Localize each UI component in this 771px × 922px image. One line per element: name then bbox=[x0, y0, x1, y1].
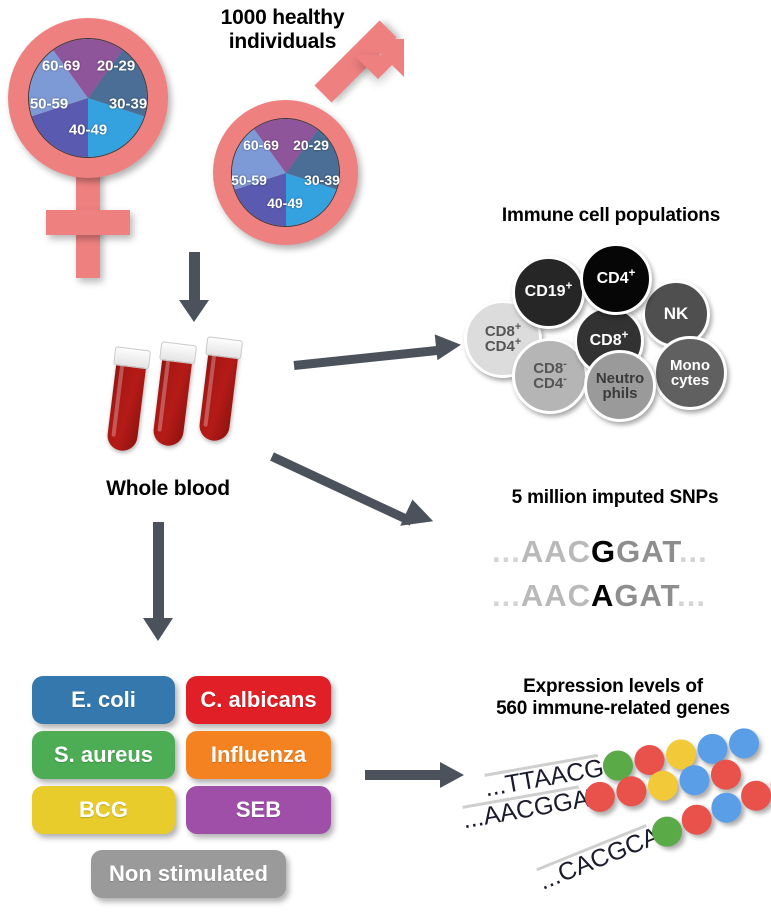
immune-cell-cluster: CD8+ CD4+ CD19+ CD4+ NK CD8+ CD8- CD4- N… bbox=[452, 238, 770, 428]
blood-tube bbox=[152, 342, 194, 448]
arrow-blood-to-snp-head bbox=[400, 499, 438, 537]
expression-title-line2: 560 immune-related genes bbox=[455, 698, 771, 720]
snp-right: GAT bbox=[616, 534, 679, 569]
arrow-stim-to-expr-head bbox=[440, 762, 464, 788]
female-pie-label-40-49: 40-49 bbox=[69, 122, 107, 139]
cell-monocytes: Mono cytes bbox=[653, 336, 727, 410]
stim-box-ecoli[interactable]: E. coli bbox=[32, 676, 175, 724]
male-pie-label-20-29: 20-29 bbox=[293, 137, 329, 153]
snp-sequence-row: ...AACAGAT... bbox=[492, 578, 706, 614]
strand-sequence: ...AACGGAT bbox=[460, 782, 604, 835]
cell-label-line2: CD4- bbox=[533, 376, 567, 391]
stim-box-influenza[interactable]: Influenza bbox=[186, 731, 331, 779]
cell-neutrophils: Neutro phils bbox=[584, 350, 656, 422]
expression-title: Expression levels of 560 immune-related … bbox=[455, 676, 771, 720]
strand-bead bbox=[646, 768, 681, 803]
stim-label: BCG bbox=[79, 797, 128, 823]
snp-prefix: ... bbox=[492, 534, 521, 569]
cell-cd4: CD4+ bbox=[580, 243, 652, 315]
arrow-cohort-to-blood-head bbox=[179, 300, 209, 322]
arrow-blood-to-stim-line bbox=[153, 522, 164, 622]
cohort-title-line1: 1000 healthy bbox=[170, 6, 395, 30]
snp-left: AAC bbox=[521, 534, 591, 569]
immune-populations-title: Immune cell populations bbox=[452, 205, 770, 227]
cell-label-line1: CD8- bbox=[533, 361, 567, 376]
female-pie-label-60-69: 60-69 bbox=[42, 58, 80, 75]
male-pie-label-40-49: 40-49 bbox=[267, 195, 303, 211]
snp-variant: A bbox=[591, 578, 614, 613]
arrow-stim-to-expr-line bbox=[365, 770, 443, 780]
stim-label: C. albicans bbox=[200, 687, 316, 713]
stim-box-calbicans[interactable]: C. albicans bbox=[186, 676, 331, 724]
snp-variant: G bbox=[591, 534, 616, 569]
tube-blood bbox=[106, 357, 147, 452]
stim-label: E. coli bbox=[71, 687, 136, 713]
cell-label: CD19+ bbox=[525, 284, 573, 300]
stim-label: S. aureus bbox=[54, 742, 153, 768]
female-pie-label-30-39: 30-39 bbox=[109, 96, 147, 113]
female-pie-label-50-59: 50-59 bbox=[30, 96, 68, 113]
snp-left: AAC bbox=[521, 578, 591, 613]
strand-bead bbox=[614, 774, 649, 809]
stim-label: Influenza bbox=[211, 742, 306, 768]
tube-blood bbox=[198, 347, 239, 442]
snp-suffix: ... bbox=[679, 534, 708, 569]
cell-label-line1: Neutro bbox=[596, 371, 644, 386]
female-cross-horizontal bbox=[46, 210, 130, 235]
blood-tube bbox=[198, 337, 240, 443]
strand-bead bbox=[737, 776, 771, 815]
snp-suffix: ... bbox=[677, 578, 706, 613]
stim-label: SEB bbox=[236, 797, 281, 823]
female-pie-label-20-29: 20-29 bbox=[97, 58, 135, 75]
cell-label-line2: cytes bbox=[671, 373, 709, 388]
male-pie-label-50-59: 50-59 bbox=[231, 172, 267, 188]
arrow-cohort-to-blood-line bbox=[189, 252, 200, 304]
arrow-blood-to-snp-line bbox=[270, 452, 413, 525]
male-pie-label-60-69: 60-69 bbox=[243, 137, 279, 153]
stim-box-non-stimulated[interactable]: Non stimulated bbox=[91, 850, 286, 898]
tube-blood bbox=[152, 352, 193, 447]
cell-label-line1: Mono bbox=[670, 358, 710, 373]
cell-label-line2: phils bbox=[602, 386, 637, 401]
arrow-blood-to-immune-line bbox=[294, 346, 440, 370]
stim-box-seb[interactable]: SEB bbox=[186, 786, 331, 834]
expression-title-line1: Expression levels of bbox=[455, 676, 771, 698]
blood-tube bbox=[106, 347, 148, 453]
stim-box-bcg[interactable]: BCG bbox=[32, 786, 175, 834]
male-pie-label-30-39: 30-39 bbox=[304, 172, 340, 188]
stim-label: Non stimulated bbox=[109, 861, 268, 887]
cell-label: CD8+ bbox=[590, 333, 629, 349]
stim-box-saureus[interactable]: S. aureus bbox=[32, 731, 175, 779]
snp-right: GAT bbox=[614, 578, 677, 613]
cell-label: NK bbox=[664, 305, 689, 322]
cell-label-line2: CD4+ bbox=[485, 339, 521, 354]
figure-canvas: 1000 healthy individuals 20-29 30-39 40-… bbox=[0, 0, 771, 922]
snp-prefix: ... bbox=[492, 578, 521, 613]
arrow-blood-to-stim-head bbox=[143, 618, 173, 641]
cell-label: CD4+ bbox=[597, 271, 636, 287]
cell-cd19: CD19+ bbox=[512, 256, 585, 329]
blood-label: Whole blood bbox=[88, 477, 248, 501]
snp-title: 5 million imputed SNPs bbox=[460, 487, 770, 509]
snp-sequence-row: ...AACGGAT... bbox=[492, 534, 708, 570]
